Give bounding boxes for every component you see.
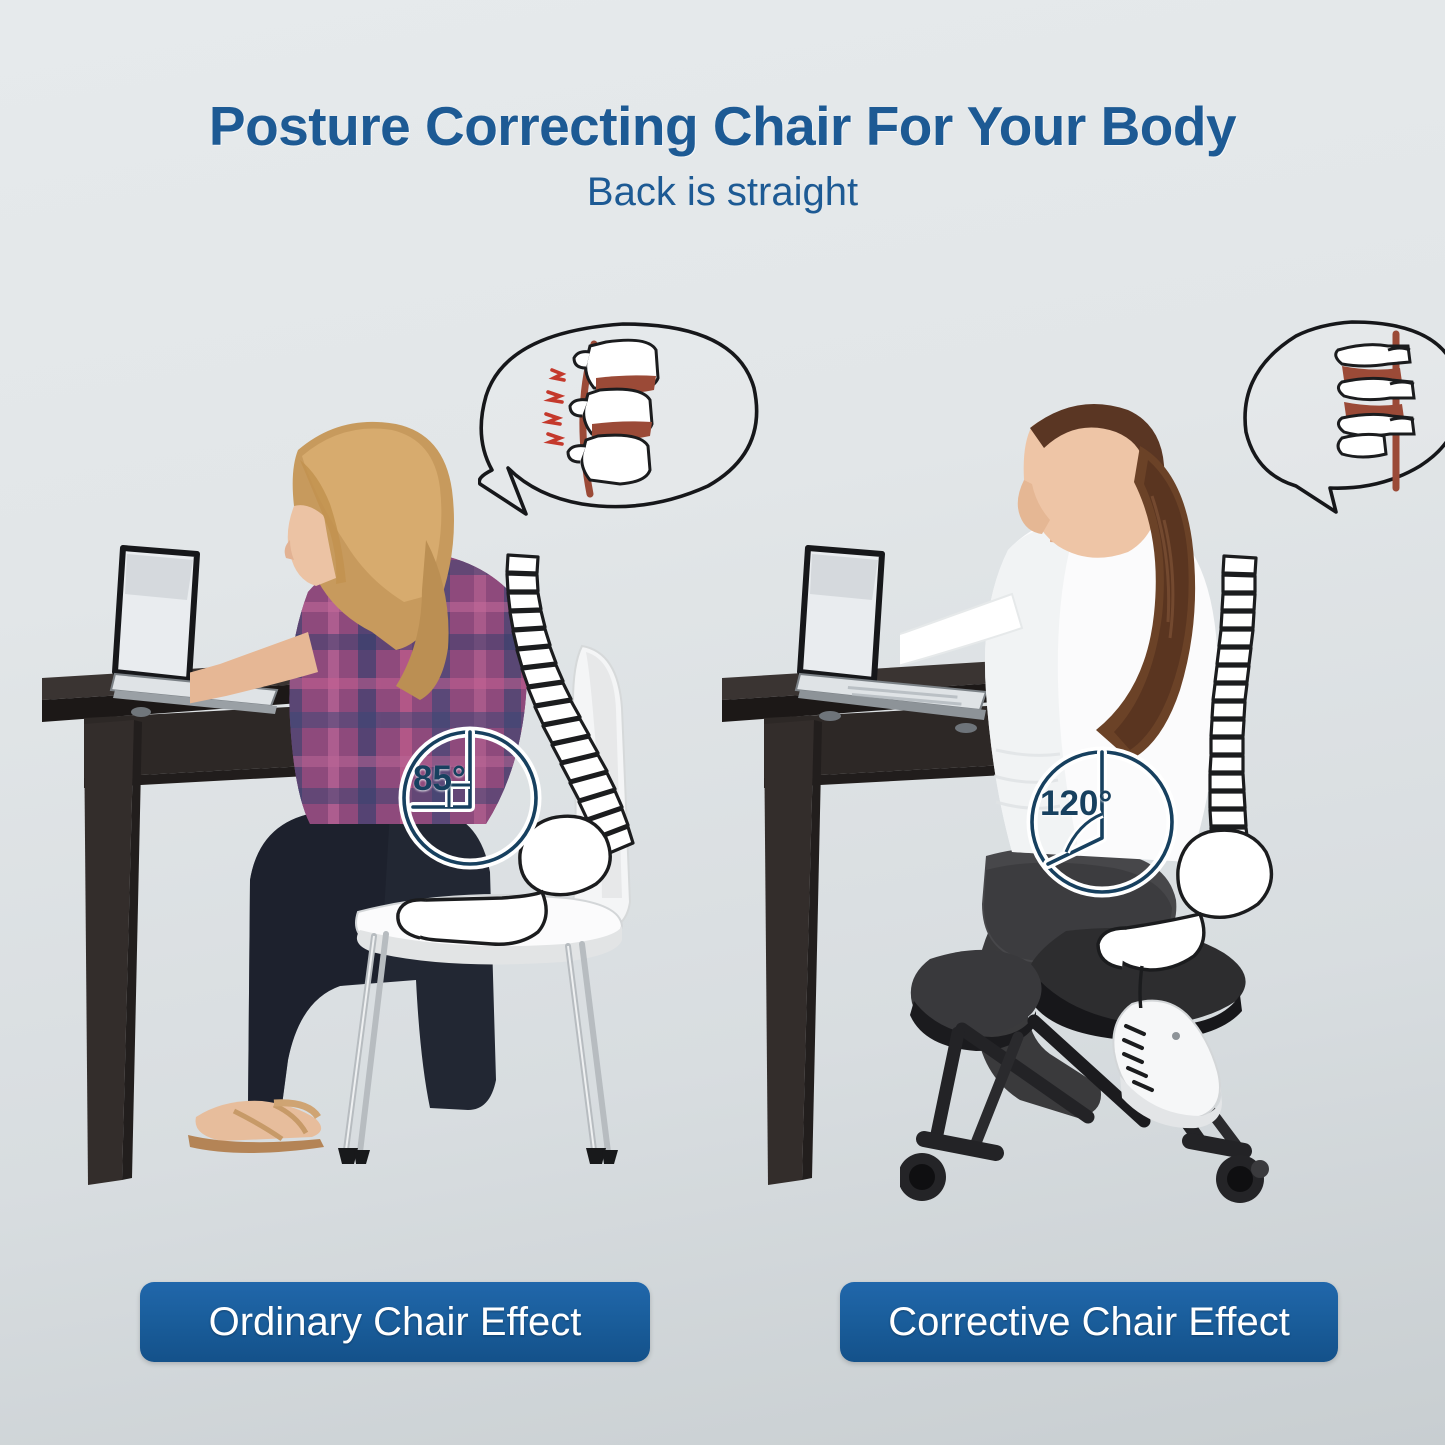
label-corrective-chair-effect[interactable]: Corrective Chair Effect — [840, 1282, 1338, 1362]
angle-badge-120-label: 120° — [1040, 784, 1112, 824]
angle-badge-85-label: 85° — [413, 759, 466, 799]
infographic-canvas: Posture Correcting Chair For Your Body B… — [0, 0, 1445, 1445]
label-corrective-chair-effect-text: Corrective Chair Effect — [888, 1300, 1290, 1345]
label-ordinary-chair-effect-text: Ordinary Chair Effect — [209, 1300, 582, 1345]
label-ordinary-chair-effect[interactable]: Ordinary Chair Effect — [140, 1282, 650, 1362]
page-title: Posture Correcting Chair For Your Body — [0, 94, 1445, 158]
page-subtitle: Back is straight — [0, 170, 1445, 215]
